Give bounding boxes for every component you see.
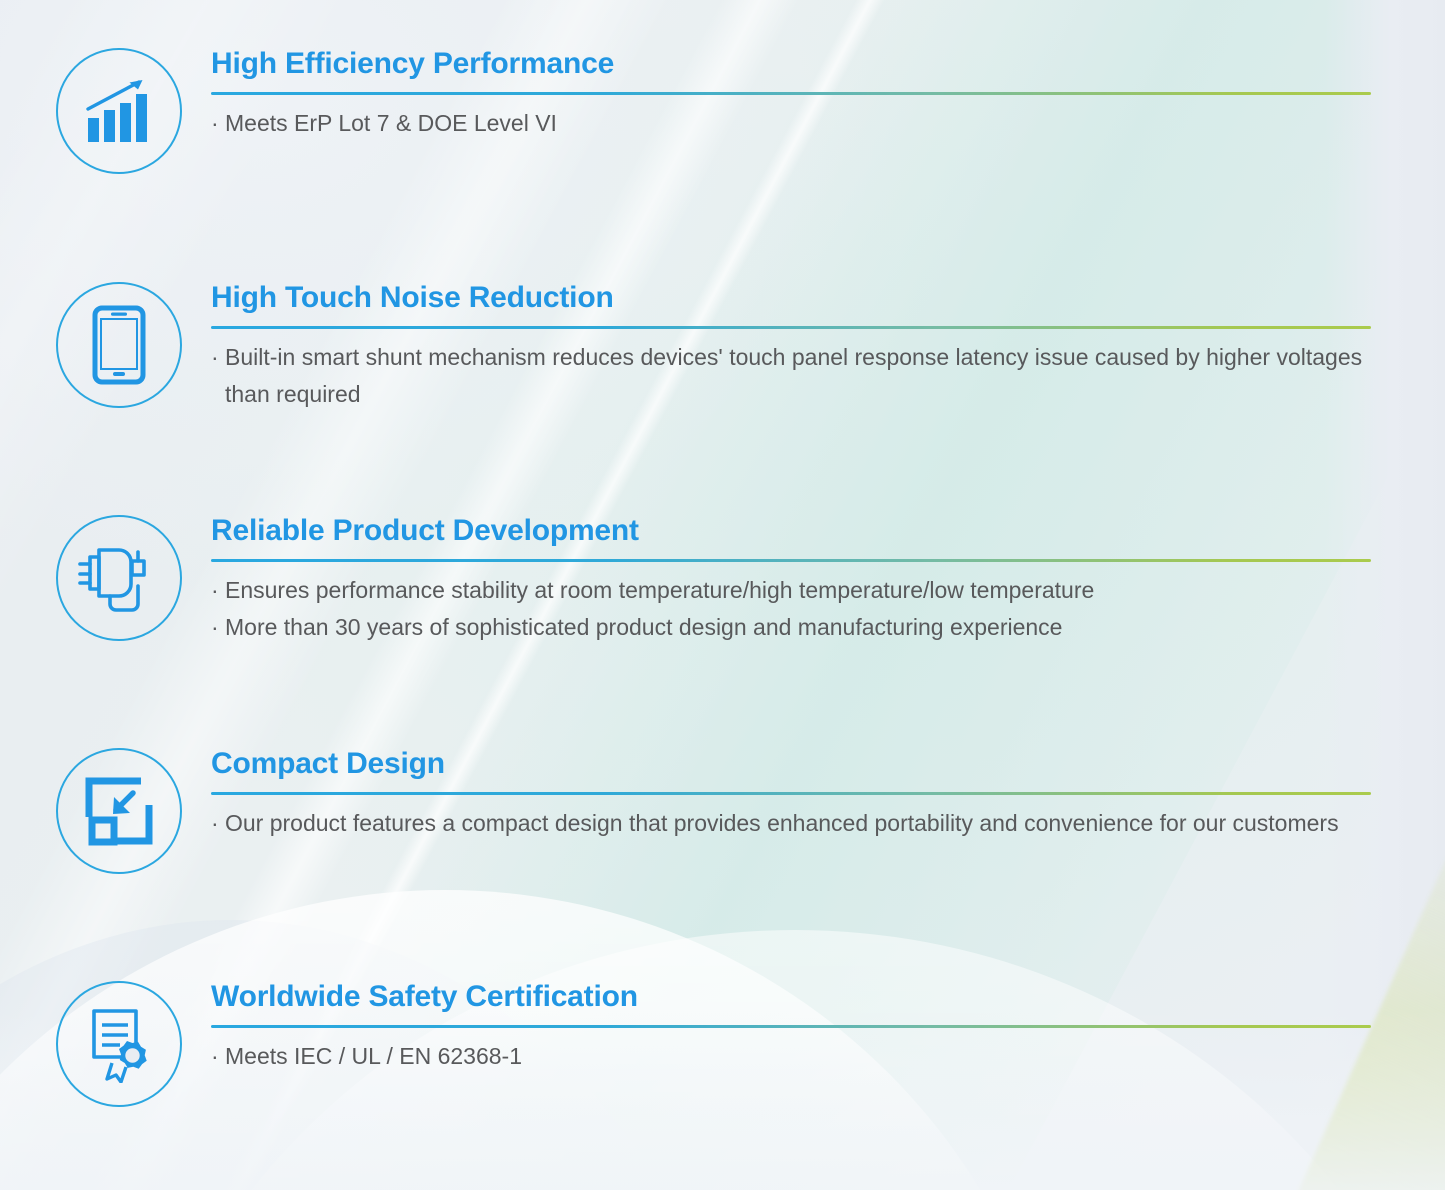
bullet-text: Meets IEC / UL / EN 62368-1 bbox=[225, 1038, 1371, 1075]
feature-title: High Touch Noise Reduction bbox=[211, 282, 1371, 314]
list-item: · Meets IEC / UL / EN 62368-1 bbox=[211, 1038, 1371, 1075]
feature-bullet-list: · Meets IEC / UL / EN 62368-1 bbox=[211, 1038, 1371, 1075]
list-item: · Built-in smart shunt mechanism reduces… bbox=[211, 339, 1371, 414]
feature-bullet-list: · Our product features a compact design … bbox=[211, 805, 1371, 842]
feature-body: High Touch Noise Reduction · Built-in sm… bbox=[211, 282, 1371, 413]
feature-title: Worldwide Safety Certification bbox=[211, 981, 1371, 1013]
feature-title: Reliable Product Development bbox=[211, 515, 1371, 547]
feature-bullet-list: · Built-in smart shunt mechanism reduces… bbox=[211, 339, 1371, 414]
power-adapter-icon bbox=[56, 515, 182, 641]
bullet-marker: · bbox=[211, 105, 225, 142]
feature-title: High Efficiency Performance bbox=[211, 48, 1371, 80]
list-item: · More than 30 years of sophisticated pr… bbox=[211, 609, 1371, 646]
bullet-text: Meets ErP Lot 7 & DOE Level VI bbox=[225, 105, 1371, 142]
bullet-marker: · bbox=[211, 572, 225, 609]
feature-body: Compact Design · Our product features a … bbox=[211, 748, 1371, 842]
smartphone-icon bbox=[56, 282, 182, 408]
feature-body: Worldwide Safety Certification · Meets I… bbox=[211, 981, 1371, 1075]
feature-body: High Efficiency Performance · Meets ErP … bbox=[211, 48, 1371, 142]
feature-divider-rule bbox=[211, 326, 1371, 329]
list-item: · Meets ErP Lot 7 & DOE Level VI bbox=[211, 105, 1371, 142]
feature-divider-rule bbox=[211, 559, 1371, 562]
feature-list-page: High Efficiency Performance · Meets ErP … bbox=[0, 0, 1445, 1190]
bullet-text: More than 30 years of sophisticated prod… bbox=[225, 609, 1371, 646]
feature-title: Compact Design bbox=[211, 748, 1371, 780]
bullet-text: Ensures performance stability at room te… bbox=[225, 572, 1371, 609]
bullet-marker: · bbox=[211, 1038, 225, 1075]
bar-chart-growth-icon bbox=[56, 48, 182, 174]
feature-divider-rule bbox=[211, 792, 1371, 795]
bullet-marker: · bbox=[211, 805, 225, 842]
feature-divider-rule bbox=[211, 92, 1371, 95]
resize-shrink-icon bbox=[56, 748, 182, 874]
bullet-marker: · bbox=[211, 339, 225, 376]
bullet-text: Built-in smart shunt mechanism reduces d… bbox=[225, 339, 1371, 414]
bullet-text: Our product features a compact design th… bbox=[225, 805, 1371, 842]
feature-bullet-list: · Ensures performance stability at room … bbox=[211, 572, 1371, 647]
list-item: · Our product features a compact design … bbox=[211, 805, 1371, 842]
bullet-marker: · bbox=[211, 609, 225, 646]
certificate-award-icon bbox=[56, 981, 182, 1107]
feature-body: Reliable Product Development · Ensures p… bbox=[211, 515, 1371, 646]
feature-divider-rule bbox=[211, 1025, 1371, 1028]
feature-bullet-list: · Meets ErP Lot 7 & DOE Level VI bbox=[211, 105, 1371, 142]
list-item: · Ensures performance stability at room … bbox=[211, 572, 1371, 609]
